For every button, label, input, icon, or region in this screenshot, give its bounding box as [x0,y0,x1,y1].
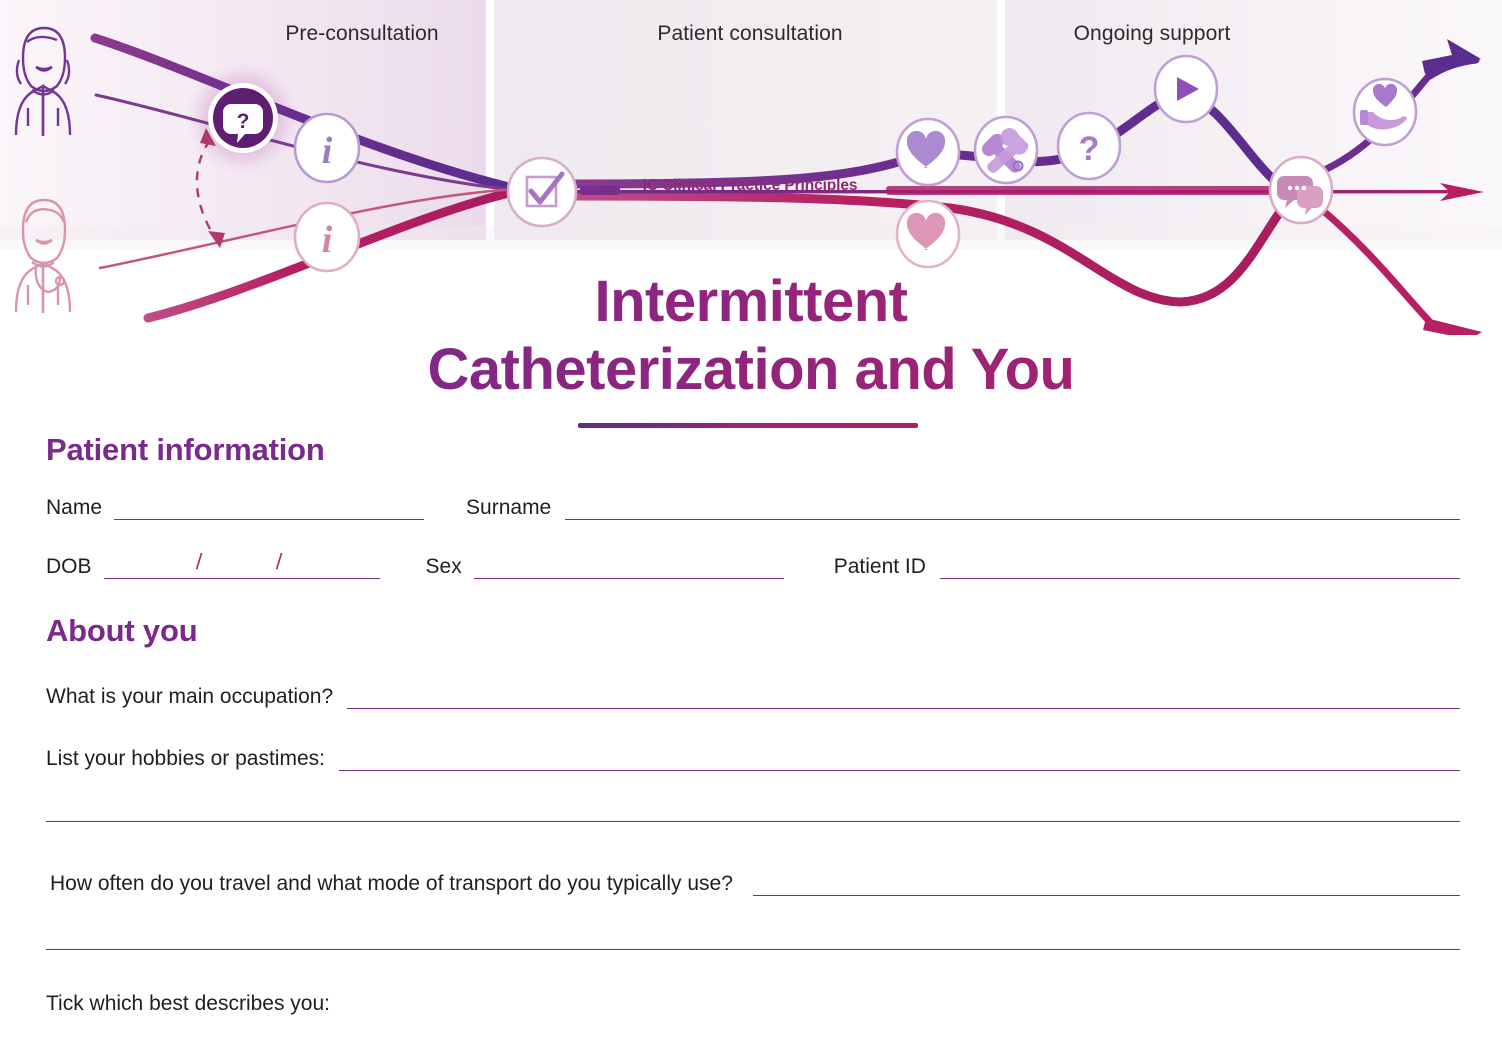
play-icon [1155,56,1217,122]
title-line-2: Catheterization and You [0,336,1502,404]
info-icon-pink: i [295,203,359,271]
row-occupation: What is your main occupation? [46,685,1460,709]
surname-input[interactable] [565,519,1460,520]
row-travel-cont [46,949,1460,950]
row-tick-describes: Tick which best describes you: [46,992,1460,1016]
info-icon-purple: i [295,114,359,182]
travel-input[interactable] [753,895,1460,896]
occupation-input[interactable] [347,708,1460,709]
dob-input[interactable]: / / [104,578,380,579]
title-divider [578,423,918,428]
sex-label: Sex [426,555,462,579]
sex-input[interactable] [474,578,784,579]
name-label: Name [46,496,102,520]
hand-heart-icon [1354,79,1416,145]
hobbies-input[interactable] [339,770,1460,771]
row-name-surname: Name Surname [46,496,1460,520]
document-title: Intermittent Catheterization and You [0,268,1502,404]
occupation-label: What is your main occupation? [46,685,333,709]
travel-label: How often do you travel and what mode of… [50,872,733,896]
patient-id-label: Patient ID [834,555,926,579]
dob-separator-1: / [195,549,202,575]
heart-icon-pink [897,201,959,267]
patient-information-heading: Patient information [46,432,1502,468]
heart-icon-purple [897,119,959,185]
stage-label-patient-consultation: Patient consultation [657,22,842,46]
row-hobbies: List your hobbies or pastimes: [46,747,1460,771]
patient-id-input[interactable] [940,578,1460,579]
question-bubble-icon: ? [208,83,278,153]
surname-label: Surname [466,496,551,520]
svg-text:i: i [322,219,333,261]
hobbies-input-line-2[interactable] [46,821,1460,822]
stage-label-pre-consultation: Pre-consultation [285,22,438,46]
checkbox-tick-icon [508,158,576,226]
tools-icon [975,117,1037,183]
title-line-1: Intermittent [0,268,1502,336]
speech-bubbles-icon [1270,157,1332,223]
question-mark-icon: ? [1058,113,1120,179]
row-dob-sex-id: DOB / / Sex Patient ID [46,555,1460,579]
tick-describes-label: Tick which best describes you: [46,992,330,1016]
ic-clinical-practice-principles-label: IC Clinical Practice Principles [643,177,858,195]
svg-text:?: ? [1079,130,1100,168]
about-you-heading: About you [46,613,1502,649]
row-hobbies-cont [46,821,1460,822]
row-travel: How often do you travel and what mode of… [50,872,1460,896]
svg-text:i: i [322,130,333,172]
hobbies-label: List your hobbies or pastimes: [46,747,325,771]
dob-separator-2: / [275,549,282,575]
form-body: Patient information Name Surname DOB / /… [0,432,1502,1016]
svg-text:?: ? [237,110,250,133]
intermittent-catheterization-form-page: ? i i [0,0,1502,1052]
stage-label-ongoing-support: Ongoing support [1074,22,1231,46]
travel-input-line-2[interactable] [46,949,1460,950]
name-input[interactable] [114,519,424,520]
dob-label: DOB [46,555,92,579]
